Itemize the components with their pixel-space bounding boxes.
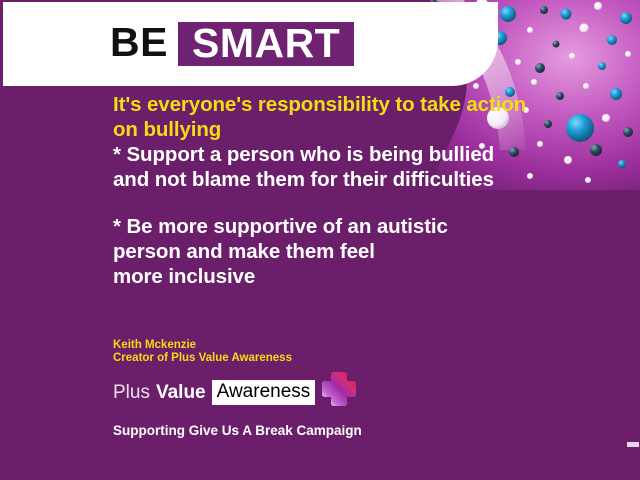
author-role: Creator of Plus Value Awareness bbox=[113, 352, 362, 365]
slide-canvas: BE SMART It's everyone's responsibility … bbox=[0, 0, 640, 480]
body-line: * Support a person who is being bullied bbox=[113, 142, 553, 167]
body-line: and not blame them for their difficultie… bbox=[113, 167, 553, 192]
supporting-campaign-text: Supporting Give Us A Break Campaign bbox=[113, 423, 362, 439]
footer-branding: Keith Mckenzie Creator of Plus Value Awa… bbox=[113, 339, 362, 439]
slide-body-copy: It's everyone's responsibility to take a… bbox=[113, 92, 553, 289]
brand-word-be: BE bbox=[110, 22, 178, 66]
be-smart-logo: BE SMART bbox=[110, 22, 354, 66]
logo-word-awareness: Awareness bbox=[212, 380, 316, 405]
body-line: * Be more supportive of an autistic bbox=[113, 214, 553, 239]
logo-word-plus: Plus bbox=[113, 382, 150, 404]
brand-smart-block: SMART bbox=[178, 22, 354, 66]
body-line: person and make them feel bbox=[113, 239, 553, 264]
paragraph-spacer bbox=[113, 192, 553, 214]
body-line: on bullying bbox=[113, 117, 553, 142]
plus-value-awareness-logo: Plus Value Awareness bbox=[113, 371, 362, 414]
edge-artifact bbox=[627, 442, 639, 447]
plus-cross-icon bbox=[319, 369, 359, 414]
body-line: more inclusive bbox=[113, 264, 553, 289]
brand-word-smart: SMART bbox=[192, 23, 340, 63]
logo-word-value: Value bbox=[156, 382, 206, 404]
header-left-edge-strip bbox=[0, 0, 3, 88]
body-line: It's everyone's responsibility to take a… bbox=[113, 92, 553, 117]
author-name: Keith Mckenzie bbox=[113, 339, 362, 352]
